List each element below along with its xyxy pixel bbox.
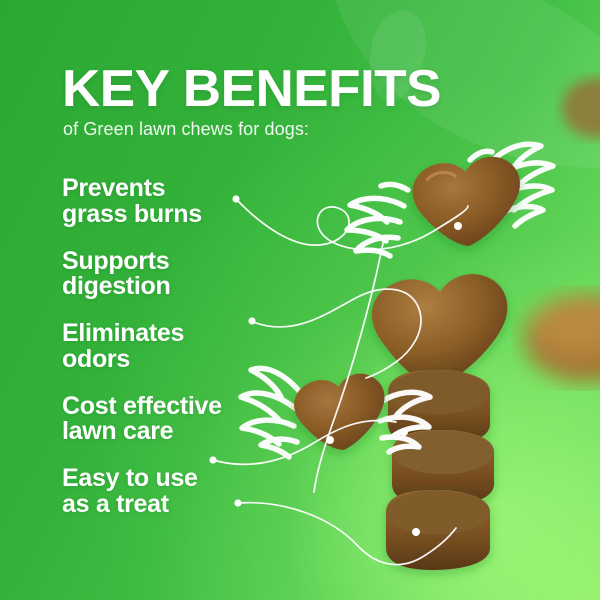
benefits-list: Prevents grass burns Supports digestion …	[62, 176, 362, 539]
benefit-item-3: Eliminates odors	[62, 321, 362, 373]
connector-dot-treat-upper	[454, 222, 462, 230]
benefit-item-4: Cost effective lawn care	[62, 394, 362, 446]
benefits-poster: KEY BENEFITS of Green lawn chews for dog…	[0, 0, 600, 600]
benefit-item-1: Prevents grass burns	[62, 176, 362, 228]
benefit-item-2: Supports digestion	[62, 249, 362, 301]
blurred-treat-right	[524, 294, 600, 382]
winged-treat-upper	[409, 153, 528, 253]
page-subtitle: of Green lawn chews for dogs:	[63, 119, 309, 140]
connector-dot-stack	[400, 428, 408, 436]
treat-stack-middle	[392, 430, 494, 506]
page-title: KEY BENEFITS	[62, 63, 441, 115]
angel-wing-upper-right	[470, 144, 553, 226]
blurred-treat-topright	[562, 78, 600, 138]
angel-wing-lower-right	[378, 392, 430, 452]
benefit-item-5: Easy to use as a treat	[62, 466, 362, 518]
treat-heart-large	[368, 269, 515, 392]
connector-dot-stack-bottom	[412, 528, 420, 536]
treat-stack-top	[388, 370, 490, 446]
treat-stack-bottom	[386, 490, 490, 570]
